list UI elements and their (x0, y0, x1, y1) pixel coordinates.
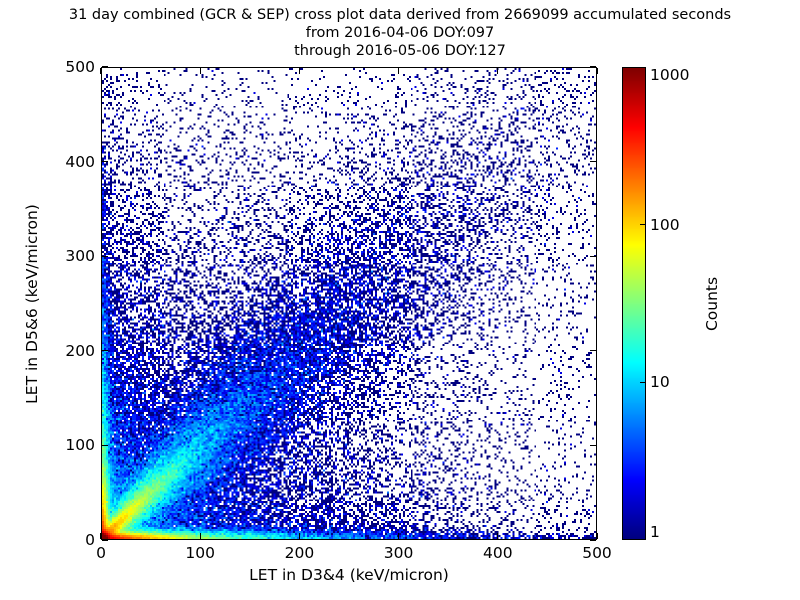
x-tick-mark (497, 533, 498, 539)
x-tick-mark (596, 533, 597, 539)
colorbar-label: Counts (703, 276, 721, 330)
x-tick-label: 200 (285, 544, 315, 562)
x-tick-label: 100 (185, 544, 215, 562)
y-tick-mark-right (590, 256, 596, 257)
y-tick-label: 400 (65, 153, 95, 171)
y-tick-mark-right (590, 66, 596, 67)
y-tick-mark (102, 161, 108, 162)
x-tick-label: 0 (96, 544, 106, 562)
x-tick-mark (398, 533, 399, 539)
y-tick-label: 200 (65, 342, 95, 360)
y-tick-label: 100 (65, 436, 95, 454)
y-tick-mark-right (590, 445, 596, 446)
y-tick-mark-right (590, 161, 596, 162)
y-tick-label: 0 (85, 531, 95, 549)
x-tick-mark-top (200, 68, 201, 74)
title-line-3: through 2016-05-06 DOY:127 (0, 42, 800, 60)
figure-root: 31 day combined (GCR & SEP) cross plot d… (0, 0, 800, 600)
title-line-2: from 2016-04-06 DOY:097 (0, 24, 800, 42)
heatmap-canvas-holder (102, 68, 596, 539)
y-tick-mark (102, 256, 108, 257)
x-axis-label: LET in D3&4 (keV/micron) (101, 566, 597, 584)
x-tick-label: 300 (384, 544, 414, 562)
chart-title: 31 day combined (GCR & SEP) cross plot d… (0, 6, 800, 60)
colorbar-tick-label: 1 (650, 523, 660, 541)
x-tick-mark (299, 533, 300, 539)
x-tick-mark-top (100, 68, 101, 74)
x-tick-mark (100, 533, 101, 539)
x-tick-mark (200, 533, 201, 539)
colorbar-tick-label: 10 (650, 373, 670, 391)
colorbar-gradient (623, 68, 645, 539)
colorbar-tick-label: 100 (650, 216, 680, 234)
y-tick-mark (102, 350, 108, 351)
x-tick-mark-top (398, 68, 399, 74)
x-tick-mark-top (299, 68, 300, 74)
colorbar (622, 67, 646, 540)
x-tick-label: 400 (483, 544, 513, 562)
colorbar-tick-label: 1000 (650, 66, 689, 84)
y-tick-mark (102, 445, 108, 446)
y-tick-label: 300 (65, 247, 95, 265)
plot-area (101, 67, 597, 540)
y-tick-mark-right (590, 350, 596, 351)
colorbar-tick-mark (640, 224, 645, 225)
x-tick-mark-top (497, 68, 498, 74)
x-tick-mark-top (596, 68, 597, 74)
heatmap-canvas (102, 68, 596, 539)
colorbar-tick-mark (640, 382, 645, 383)
y-tick-mark (102, 66, 108, 67)
y-tick-mark (102, 539, 108, 540)
title-line-1: 31 day combined (GCR & SEP) cross plot d… (0, 6, 800, 24)
y-tick-label: 500 (65, 58, 95, 76)
y-axis-label: LET in D5&6 (keV/micron) (23, 204, 41, 404)
y-tick-mark-right (590, 539, 596, 540)
x-tick-label: 500 (582, 544, 612, 562)
